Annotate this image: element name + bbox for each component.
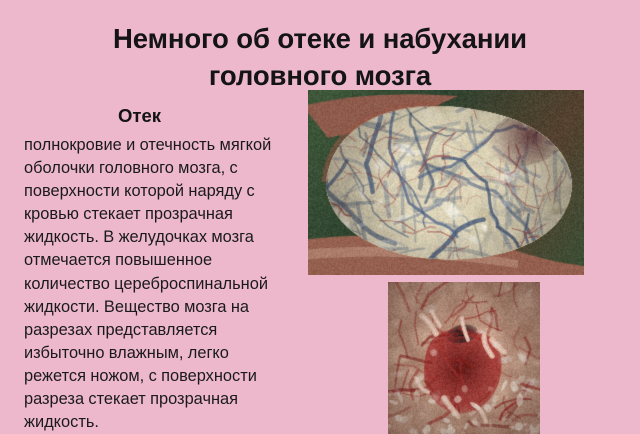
brain-base-hemorrhage-canvas bbox=[388, 282, 540, 434]
brain-edema-surface-canvas bbox=[308, 90, 584, 275]
title-line-1: Немного об отеке и набухании bbox=[26, 20, 614, 57]
body-paragraph: полнокровие и отечность мягкой оболочки … bbox=[24, 134, 292, 434]
slide-canvas: Немного об отеке и набухании головного м… bbox=[0, 0, 640, 434]
brain-edema-surface-photo bbox=[308, 90, 584, 275]
page-title: Немного об отеке и набухании головного м… bbox=[26, 20, 614, 94]
title-line-2: головного мозга bbox=[26, 57, 614, 94]
brain-base-hemorrhage-photo bbox=[388, 282, 540, 434]
text-column: Отек полнокровие и отечность мягкой обол… bbox=[24, 104, 292, 434]
section-heading: Отек bbox=[118, 104, 292, 128]
